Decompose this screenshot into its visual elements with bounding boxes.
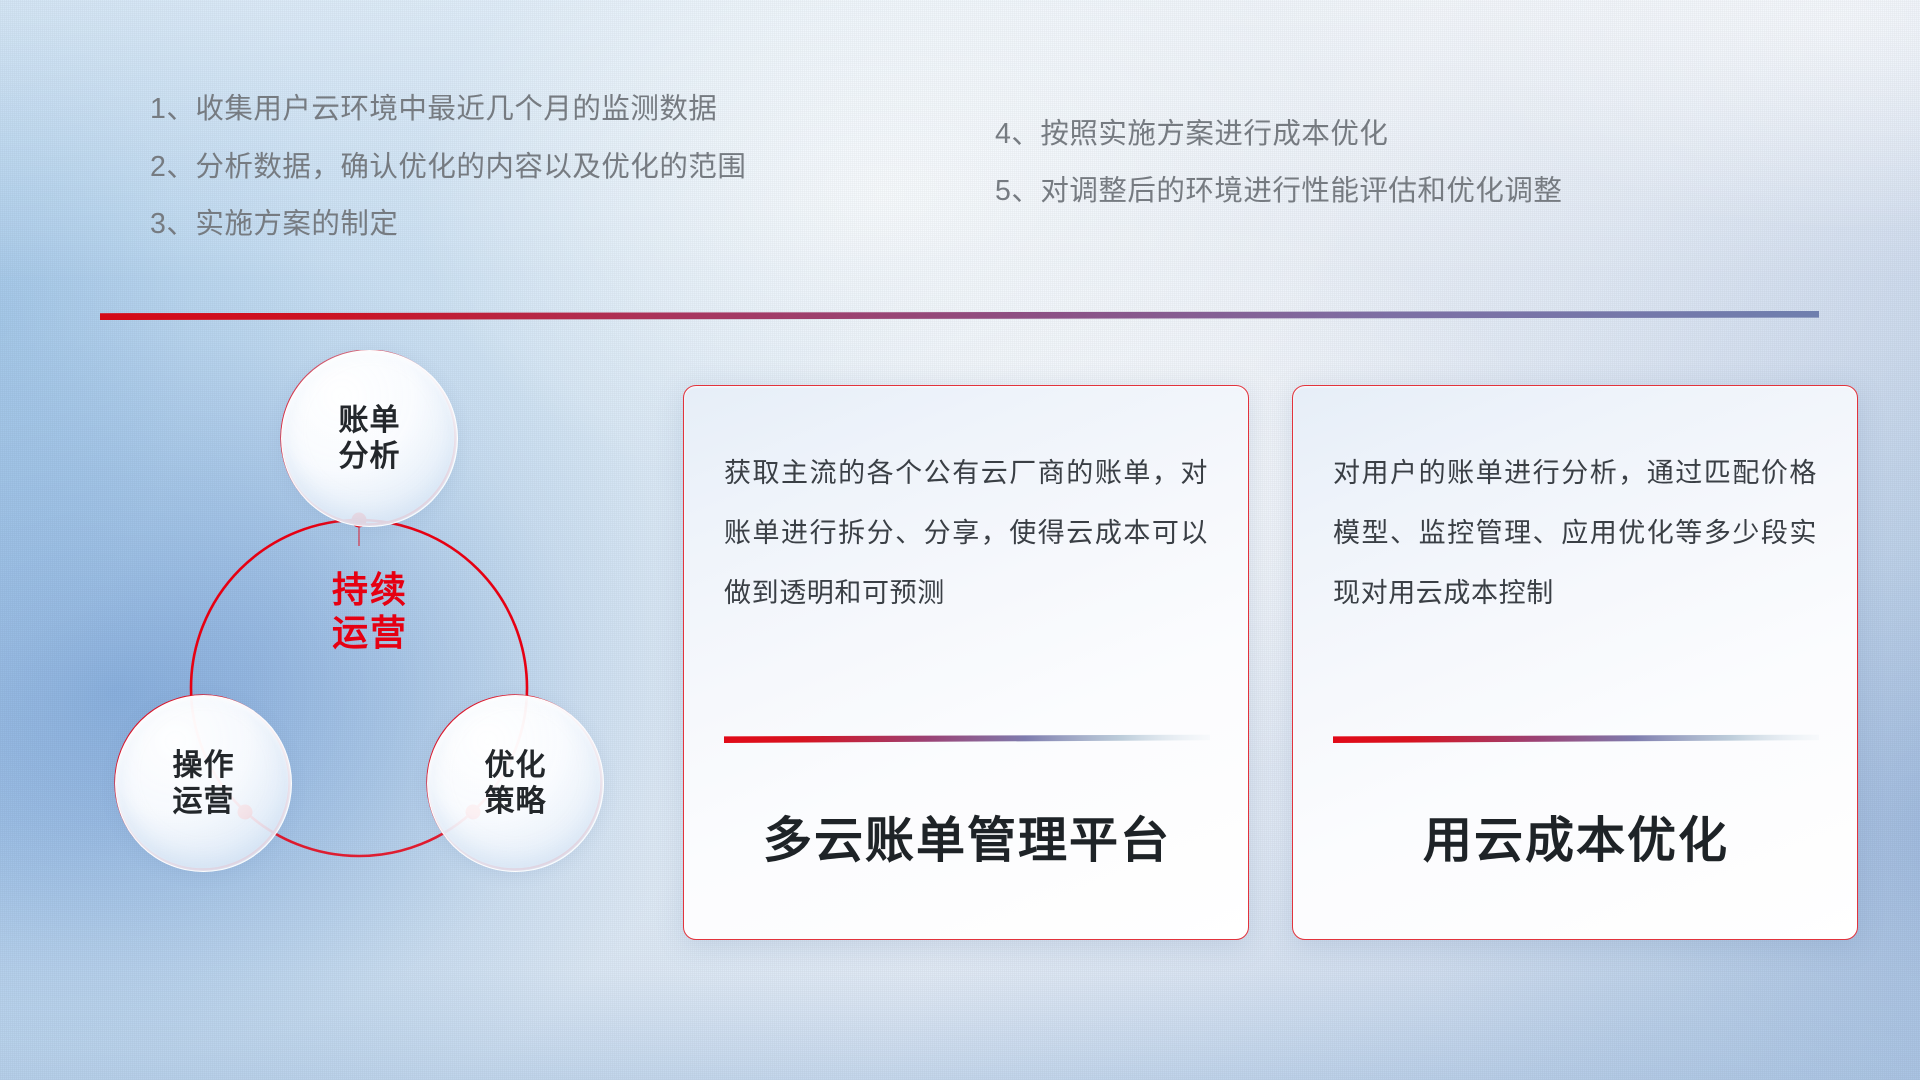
- venn-bubble-operations[interactable]: 操作 运营: [115, 695, 292, 872]
- venn-center-label-line1: 持续: [285, 568, 455, 611]
- card-divider-shape: [1333, 734, 1819, 743]
- venn-center-label: 持续 运营: [285, 568, 455, 654]
- card-divider: [1333, 734, 1819, 743]
- step-item-3: 3、实施方案的制定: [150, 210, 870, 239]
- card-body-text: 对用户的账单进行分析，通过匹配价格模型、监控管理、应用优化等多少段实现对用云成本…: [1333, 444, 1817, 624]
- venn-bubble-label-line2: 策略: [485, 784, 547, 819]
- step-list-left: 1、收集用户云环境中最近几个月的监测数据 2、分析数据，确认优化的内容以及优化的…: [150, 95, 870, 268]
- card-divider-shape: [724, 734, 1210, 743]
- venn-bubble-billing-analysis[interactable]: 账单 分析: [281, 350, 458, 527]
- step-list-right: 4、按照实施方案进行成本优化 5、对调整后的环境进行性能评估和优化调整: [995, 120, 1715, 233]
- venn-center-label-line2: 运营: [285, 611, 455, 654]
- venn-bubble-label-line1: 账单: [339, 403, 401, 438]
- venn-bubble-label-line2: 分析: [339, 439, 401, 474]
- header-divider-shape: [100, 311, 1819, 320]
- step-item-4: 4、按照实施方案进行成本优化: [995, 120, 1715, 149]
- venn-bubble-label-line1: 操作: [173, 748, 235, 783]
- venn-bubble-optimization-strategy[interactable]: 优化 策略: [427, 695, 604, 872]
- feature-card-cloud-cost-optimization[interactable]: 对用户的账单进行分析，通过匹配价格模型、监控管理、应用优化等多少段实现对用云成本…: [1292, 385, 1858, 940]
- venn-diagram: 账单 分析 操作 运营 优化 策略 持续 运营: [95, 350, 635, 940]
- card-body-text: 获取主流的各个公有云厂商的账单，对账单进行拆分、分享，使得云成本可以做到透明和可…: [724, 444, 1208, 624]
- step-item-5: 5、对调整后的环境进行性能评估和优化调整: [995, 177, 1715, 206]
- venn-bubble-label-line2: 运营: [173, 784, 235, 819]
- step-item-2: 2、分析数据，确认优化的内容以及优化的范围: [150, 153, 870, 182]
- header-divider: [100, 311, 1819, 320]
- step-item-1: 1、收集用户云环境中最近几个月的监测数据: [150, 95, 870, 124]
- venn-bubble-label-line1: 优化: [485, 748, 547, 783]
- card-title: 多云账单管理平台: [724, 815, 1210, 869]
- card-title: 用云成本优化: [1333, 815, 1819, 869]
- card-divider: [724, 734, 1210, 743]
- feature-card-multicloud-billing[interactable]: 获取主流的各个公有云厂商的账单，对账单进行拆分、分享，使得云成本可以做到透明和可…: [683, 385, 1249, 940]
